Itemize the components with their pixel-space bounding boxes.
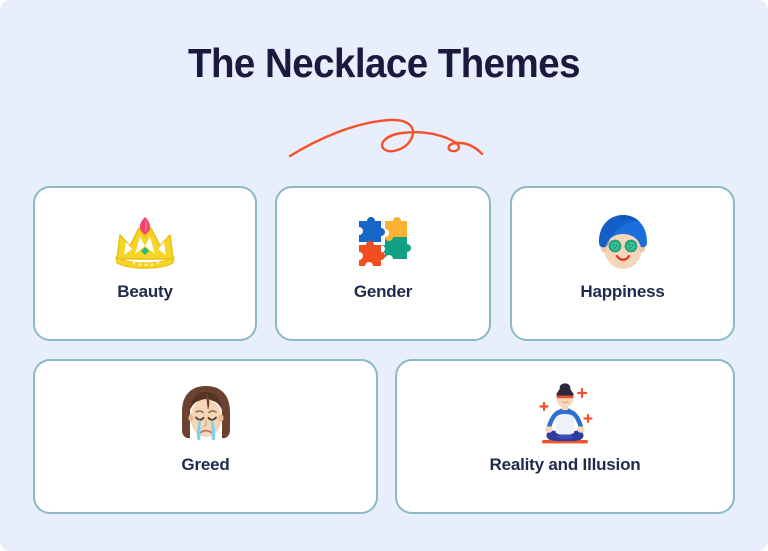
theme-card-label: Greed	[35, 454, 376, 476]
face-with-cucumber-mask-icon	[512, 210, 733, 276]
jigsaw-puzzle-pieces-icon	[277, 210, 489, 276]
page-title: The Necklace Themes	[23, 38, 745, 88]
theme-card-label: Happiness	[512, 281, 733, 303]
theme-card-happiness[interactable]: Happiness	[510, 186, 735, 341]
themes-card-grid: Beauty Gender	[33, 186, 735, 514]
theme-card-beauty[interactable]: Beauty	[33, 186, 257, 341]
tiara-crown-icon	[35, 210, 255, 276]
hand-drawn-squiggle-icon	[286, 112, 486, 164]
theme-card-label: Gender	[277, 281, 489, 303]
theme-card-label: Beauty	[35, 281, 255, 303]
meditating-person-lotus-pose-icon	[397, 383, 733, 449]
crying-woman-face-icon	[35, 383, 376, 449]
theme-card-gender[interactable]: Gender	[275, 186, 491, 341]
theme-card-greed[interactable]: Greed	[33, 359, 378, 514]
theme-card-reality-and-illusion[interactable]: Reality and Illusion	[395, 359, 735, 514]
theme-card-label: Reality and Illusion	[397, 454, 733, 476]
theme-poster: The Necklace Themes	[0, 0, 768, 551]
